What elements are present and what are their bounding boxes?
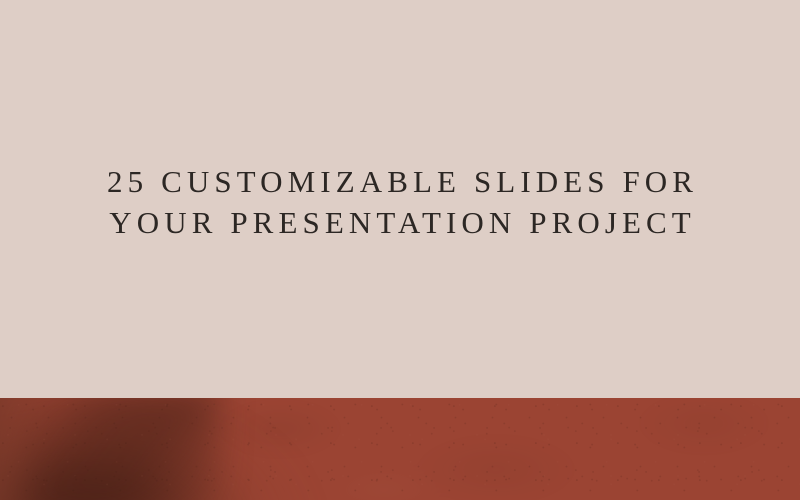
slide-title-block: 25 CUSTOMIZABLE SLIDES FOR YOUR PRESENTA… [0, 0, 800, 398]
slide-title-line-2: YOUR PRESENTATION PROJECT [104, 202, 696, 243]
bottom-color-band [0, 398, 800, 500]
title-slide: 25 CUSTOMIZABLE SLIDES FOR YOUR PRESENTA… [0, 0, 800, 500]
band-paper-grain [0, 398, 800, 500]
slide-title-line-1: 25 CUSTOMIZABLE SLIDES FOR [102, 161, 698, 202]
